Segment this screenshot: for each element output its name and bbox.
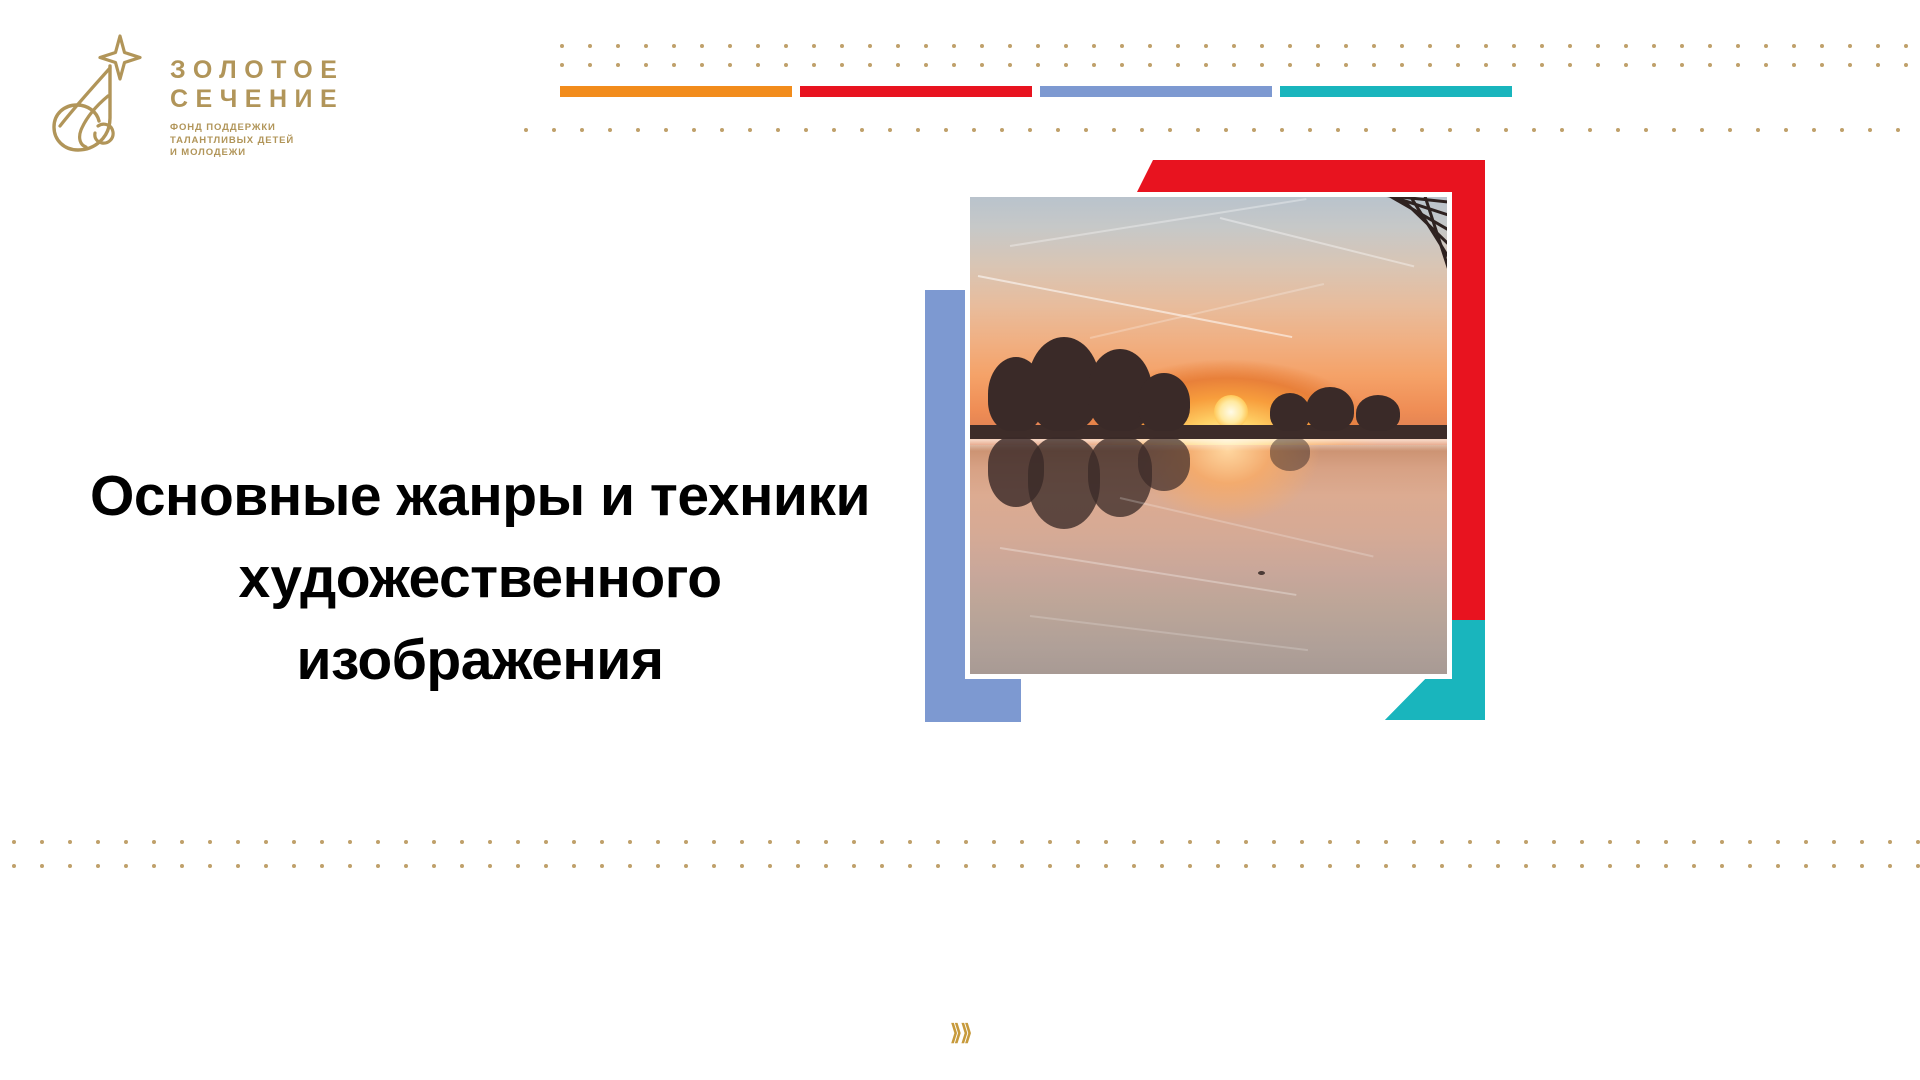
bottom-decoration: ⟫⟫	[0, 990, 1920, 1080]
tree-7	[1356, 395, 1400, 431]
tree-reflection-4	[1138, 437, 1190, 491]
tree-5	[1270, 393, 1310, 431]
bar-red	[800, 86, 1032, 97]
tree-4	[1138, 373, 1190, 431]
page-title: Основные жанры и техникихудожественногои…	[40, 455, 920, 701]
duck-silhouette	[1258, 571, 1265, 575]
bar-orange	[560, 86, 792, 97]
top-decoration	[0, 0, 1920, 170]
photo-border	[965, 192, 1452, 679]
tree-6	[1306, 387, 1354, 431]
bar-blue	[1040, 86, 1272, 97]
tree-reflection-5	[1270, 437, 1310, 471]
title-line-3: изображения	[40, 619, 920, 701]
bar-teal	[1280, 86, 1512, 97]
presentation-slide: ЗОЛОТОЕ СЕЧЕНИЕ ФОНД ПОДДЕРЖКИ ТАЛАНТЛИВ…	[0, 0, 1920, 1080]
chevron-icon: ⟫⟫	[950, 1020, 970, 1046]
sun-glow	[1214, 395, 1248, 429]
title-line-2: художественного	[40, 537, 920, 619]
photo-frame	[925, 160, 1485, 722]
sunset-lake-image	[970, 197, 1447, 674]
title-line-1: Основные жанры и техники	[40, 455, 920, 537]
